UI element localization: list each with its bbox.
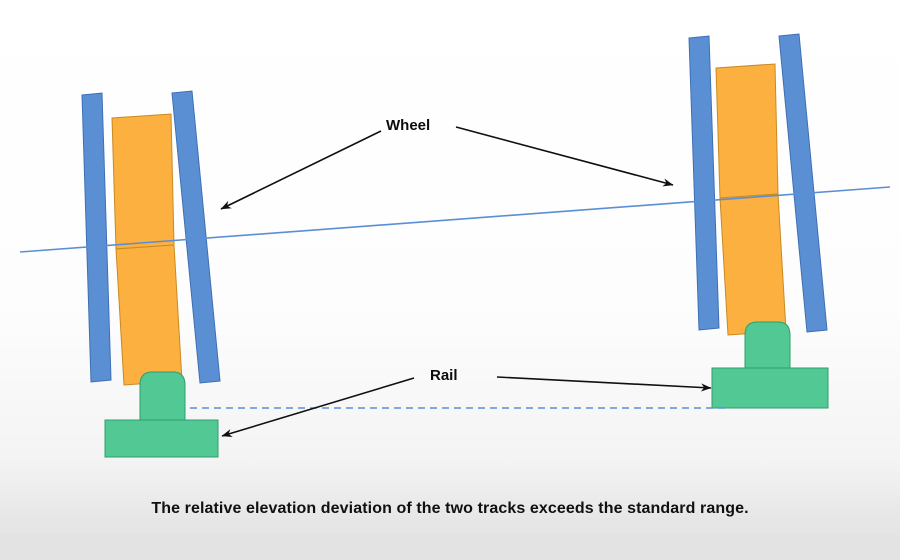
right-assembly-outer-flange (689, 36, 719, 330)
right-rail-base (712, 368, 828, 408)
right-wheel-body-upper (716, 64, 778, 198)
left-wheel-body-upper (112, 114, 174, 249)
left-assembly-outer-flange (82, 93, 111, 382)
rail-arrow-right (497, 377, 711, 388)
left-wheel-rail-assembly (82, 91, 220, 457)
rail-arrow-left (222, 378, 414, 436)
wheel-arrow-right (456, 127, 673, 185)
rail-annotation-label: Rail (430, 367, 458, 384)
wheel-annotation-label: Wheel (386, 117, 430, 134)
left-wheel-body-lower (116, 245, 182, 385)
left-rail-web (140, 372, 185, 421)
diagram-canvas: Wheel Rail The relative elevation deviat… (0, 0, 900, 560)
diagram-caption: The relative elevation deviation of the … (0, 500, 900, 518)
left-rail-base (105, 420, 218, 457)
right-wheel-rail-assembly (689, 34, 828, 408)
right-rail-web (745, 322, 790, 369)
right-assembly-inner-flange (779, 34, 827, 332)
track-elevation-diagram (0, 0, 900, 560)
right-wheel-body-lower (720, 194, 786, 335)
wheel-arrow-left (221, 131, 381, 209)
